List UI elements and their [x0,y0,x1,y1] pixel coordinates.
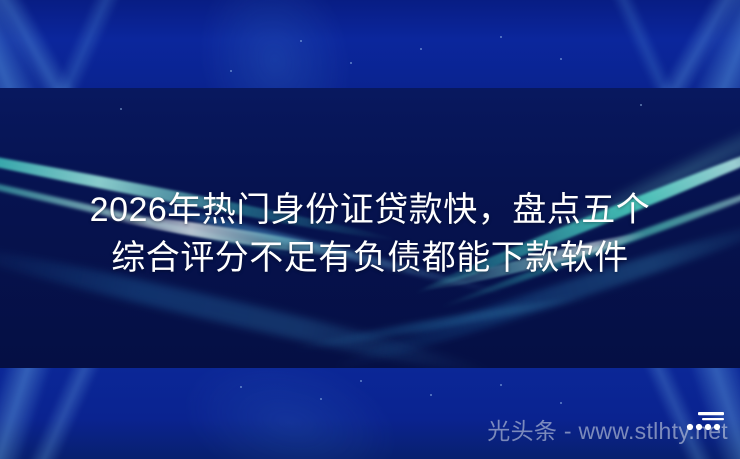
band-bottom-shading [0,368,740,459]
article-cover-image: 2026年热门身份证贷款快，盘点五个 综合评分不足有负债都能下款软件 光头条 -… [0,0,740,459]
sparkle-dot-icon [500,384,502,386]
sparkle-dot-icon [300,40,302,42]
light-glow-icon [168,368,413,459]
teal-swoosh-icon [422,228,648,295]
light-beam-icon [0,0,67,88]
light-glow-icon [181,0,369,88]
band-top-shading [0,0,740,88]
teal-swoosh-icon [0,134,396,245]
light-beam-icon [26,0,127,88]
teal-swoosh-icon [95,187,505,297]
watermark: 光头条 - www.stlhty.net [487,417,728,445]
teal-swoosh-icon [0,235,496,368]
background-band-top [0,0,740,88]
teal-swoosh-icon [440,173,740,310]
sparkle-dot-icon [500,36,502,38]
sparkle-dot-icon [360,380,362,382]
sparkle-dot-icon [120,108,122,110]
light-beam-icon [667,0,740,88]
sparkle-dot-icon [560,402,562,404]
teal-swoosh-icon [413,126,740,299]
teal-swoosh-icon [101,208,360,263]
light-beam-icon [608,0,701,88]
light-beam-icon [0,0,109,88]
sparkle-dot-icon [240,386,242,388]
sparkle-dot-icon [640,104,642,106]
background-band-bottom [0,368,740,459]
teal-swoosh-icon [0,153,325,266]
light-beam-icon [9,368,116,459]
background-band-middle [0,88,740,368]
teal-glow-icon [489,120,740,278]
teal-swoosh-icon [329,210,740,368]
light-beam-icon [0,368,64,459]
light-beam-icon [625,0,740,88]
teal-swoosh-icon [291,292,588,354]
sparkle-dot-icon [560,58,562,60]
band-middle-shading [0,88,740,368]
menu-list-icon [686,411,726,437]
sparkle-dot-icon [320,398,322,400]
sparkle-dot-icon [430,394,432,396]
sparkle-dot-icon [230,70,232,72]
sparkle-dot-icon [350,62,352,64]
sparkle-dot-icon [420,48,422,50]
